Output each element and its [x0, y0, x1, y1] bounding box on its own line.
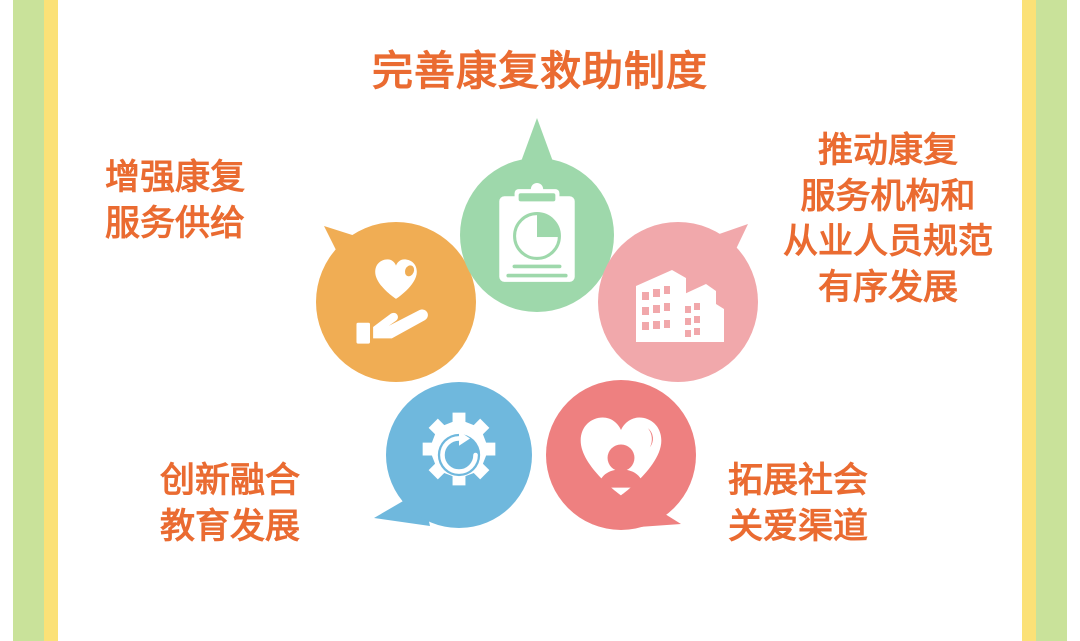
left-yellow-bar — [44, 0, 58, 641]
label-bottom-right: 拓展社会 关爱渠道 — [728, 458, 868, 549]
page-title: 完善康复救助制度 — [0, 48, 1080, 95]
label-bottom-right-line1: 拓展社会 — [728, 458, 868, 504]
label-top-right-line3: 从业人员规范 — [768, 219, 1008, 265]
heart-person-icon — [546, 380, 696, 530]
label-top-left-line1: 增强康复 — [105, 155, 245, 201]
label-top-right-line4: 有序发展 — [768, 265, 1008, 311]
node-blue[interactable] — [386, 382, 532, 528]
label-bottom-left: 创新融合 教育发展 — [160, 458, 300, 549]
label-bottom-left-line1: 创新融合 — [160, 458, 300, 504]
right-green-bar — [1036, 0, 1067, 641]
node-coral[interactable] — [546, 380, 696, 530]
buildings-icon — [600, 222, 760, 382]
left-green-bar — [13, 0, 44, 641]
label-top-left-line2: 服务供给 — [105, 201, 245, 247]
label-bottom-left-line2: 教育发展 — [160, 504, 300, 550]
node-pink[interactable] — [600, 222, 760, 382]
right-yellow-bar — [1022, 0, 1036, 641]
infographic-canvas: 完善康复救助制度 — [0, 0, 1080, 641]
label-top-right: 推动康复 服务机构和 从业人员规范 有序发展 — [768, 128, 1008, 310]
gear-refresh-icon — [386, 382, 532, 528]
label-top-right-line1: 推动康复 — [768, 128, 1008, 174]
label-top-left: 增强康复 服务供给 — [105, 155, 245, 246]
label-bottom-right-line2: 关爱渠道 — [728, 504, 868, 550]
label-top-right-line2: 服务机构和 — [768, 174, 1008, 220]
